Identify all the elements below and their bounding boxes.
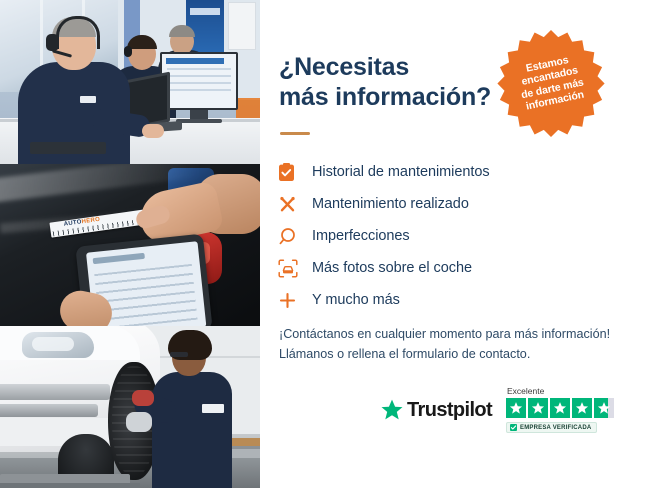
trustpilot-star-icon bbox=[380, 398, 404, 422]
content-panel: ¿Necesitas más información? Estamos bbox=[260, 0, 650, 488]
headset-earcup bbox=[46, 34, 59, 51]
car-lift-base bbox=[0, 483, 140, 488]
information-promo-banner: AUTOHERO bbox=[0, 0, 650, 488]
front-grille bbox=[0, 384, 110, 400]
paragraph-line-2: Llámanos o rellena el formulario de cont… bbox=[279, 344, 639, 364]
agent-name-tag bbox=[80, 96, 96, 103]
mechanic-glove bbox=[126, 412, 152, 432]
trustpilot-logo: Trustpilot bbox=[380, 398, 492, 422]
feature-list: Historial de mantenimientos Mantenimient… bbox=[278, 156, 628, 316]
lower-grille bbox=[0, 404, 98, 417]
contact-paragraph: ¡Contáctanos en cualquier momento para m… bbox=[279, 324, 639, 364]
feature-label: Imperfecciones bbox=[312, 228, 410, 244]
feature-item-maintenance-done: Mantenimiento realizado bbox=[278, 188, 628, 220]
car-photo-focus-icon bbox=[278, 259, 312, 278]
feature-label: Historial de mantenimientos bbox=[312, 164, 490, 180]
verified-company-badge: EMPRESA VERIFICADA bbox=[506, 422, 597, 433]
paragraph-line-1: ¡Contáctanos en cualquier momento para m… bbox=[279, 324, 639, 344]
page-title: ¿Necesitas más información? bbox=[279, 52, 519, 112]
feature-item-much-more: Y mucho más bbox=[278, 284, 628, 316]
feature-label: Más fotos sobre el coche bbox=[312, 260, 472, 276]
headline-line-2: más información? bbox=[279, 82, 519, 112]
headlight-lens bbox=[32, 337, 74, 351]
verified-check-icon bbox=[510, 424, 517, 431]
feature-item-more-photos: Más fotos sobre el coche bbox=[278, 252, 628, 284]
star-filled bbox=[506, 398, 526, 418]
verified-label: EMPRESA VERIFICADA bbox=[520, 425, 591, 431]
badge-content: Estamos encantados de darte más informac… bbox=[485, 16, 618, 149]
star-filled bbox=[550, 398, 570, 418]
feature-label: Mantenimiento realizado bbox=[312, 196, 469, 212]
mechanic-name-tag bbox=[202, 404, 224, 413]
safety-glasses bbox=[170, 352, 188, 357]
support-badge: Estamos encantados de darte más informac… bbox=[495, 26, 607, 138]
feature-item-maintenance-history: Historial de mantenimientos bbox=[278, 156, 628, 188]
trustpilot-score: Excelente bbox=[506, 386, 626, 436]
plus-icon bbox=[278, 291, 312, 310]
screen-header-bar bbox=[166, 58, 224, 64]
badge-text: Estamos encantados de darte más informac… bbox=[504, 49, 599, 116]
mechanic-body bbox=[152, 372, 232, 488]
feature-label: Y mucho más bbox=[312, 292, 400, 308]
autohero-ruler-inspection-photo: AUTOHERO bbox=[0, 164, 260, 326]
tools-icon bbox=[278, 195, 312, 214]
star-partial bbox=[594, 398, 614, 418]
headline-line-1: ¿Necesitas bbox=[279, 52, 519, 82]
monitor-base bbox=[176, 119, 222, 123]
screen-content-rows bbox=[167, 68, 231, 96]
mechanic-wheel-inspection-photo bbox=[0, 326, 260, 488]
mechanic-tool bbox=[132, 390, 154, 406]
magnifier-icon bbox=[278, 227, 312, 246]
rating-label: Excelente bbox=[506, 386, 626, 396]
monitor-screen bbox=[162, 54, 236, 108]
star-filled bbox=[572, 398, 592, 418]
checklist-icon bbox=[278, 163, 312, 182]
star-filled bbox=[528, 398, 548, 418]
second-agent-headset bbox=[124, 46, 132, 57]
agent-hand bbox=[142, 124, 164, 138]
star-rating bbox=[506, 398, 626, 418]
headset-band bbox=[56, 16, 100, 49]
call-center-agents-photo bbox=[0, 0, 260, 164]
feature-item-imperfections: Imperfecciones bbox=[278, 220, 628, 252]
title-divider bbox=[280, 132, 310, 135]
photo-strip: AUTOHERO bbox=[0, 0, 260, 488]
wall-poster bbox=[228, 2, 256, 50]
monitor bbox=[160, 52, 238, 110]
trustpilot-rating: Trustpilot Excelente bbox=[380, 386, 640, 444]
tablet-screen-header bbox=[93, 253, 145, 264]
keyboard bbox=[30, 142, 106, 154]
trustpilot-wordmark: Trustpilot bbox=[407, 399, 492, 422]
